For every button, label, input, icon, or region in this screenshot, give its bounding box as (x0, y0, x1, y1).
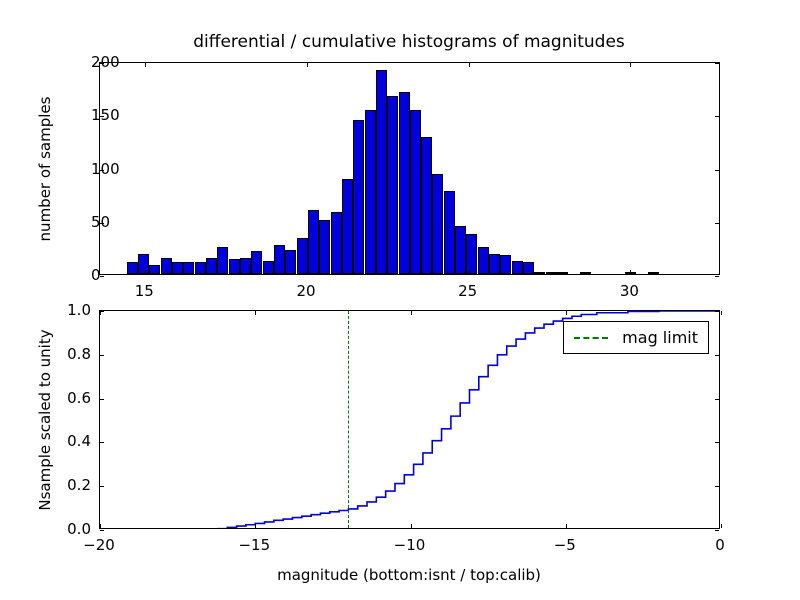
y-tick-mark (715, 311, 719, 312)
histogram-bar (399, 92, 410, 274)
x-tick-label: 15 (135, 282, 154, 300)
histogram-bar (489, 254, 500, 274)
x-tick-mark (145, 270, 146, 274)
y-tick-mark (100, 442, 104, 443)
bottom-axes: mag limit (99, 310, 720, 529)
bottom-axes-ylabel: Nsample scaled to unity (36, 329, 54, 510)
bottom-axes-xlabel: magnitude (bottom:isnt / top:calib) (277, 566, 541, 584)
y-tick-mark (100, 276, 104, 277)
x-tick-mark (100, 524, 101, 528)
histogram-bar (183, 262, 194, 274)
histogram-bar (500, 255, 511, 274)
x-tick-mark (411, 524, 412, 528)
histogram-bar (240, 258, 251, 274)
figure-title: differential / cumulative histograms of … (193, 32, 625, 52)
y-tick-mark (715, 399, 719, 400)
x-tick-label: −20 (83, 536, 115, 554)
x-tick-mark (566, 311, 567, 315)
y-tick-mark (100, 355, 104, 356)
y-tick-mark (715, 486, 719, 487)
x-tick-mark (721, 524, 722, 528)
histogram-bar (138, 254, 149, 274)
y-tick-label: 0.6 (67, 389, 91, 407)
top-axes (99, 62, 720, 275)
histogram-bar (444, 191, 455, 274)
histogram-bar (127, 262, 138, 274)
x-tick-mark (566, 524, 567, 528)
y-tick-mark (100, 399, 104, 400)
histogram-bar (195, 262, 206, 274)
histogram-bar (478, 247, 489, 274)
histogram-bar (161, 258, 172, 274)
y-tick-mark (715, 442, 719, 443)
x-tick-mark (307, 270, 308, 274)
histogram-bar (387, 96, 398, 274)
x-tick-mark (255, 524, 256, 528)
x-tick-mark (307, 63, 308, 67)
histogram-bar (263, 261, 274, 274)
x-tick-label: 25 (458, 282, 477, 300)
histogram-bar (206, 258, 217, 274)
histogram-bar (512, 261, 523, 274)
histogram-bar (432, 174, 443, 274)
y-tick-mark (715, 170, 719, 171)
histogram-bar (455, 226, 466, 274)
histogram-bar (410, 110, 421, 274)
histogram-plot-area (100, 63, 719, 274)
y-tick-mark (100, 530, 104, 531)
x-tick-label: 20 (296, 282, 315, 300)
x-tick-mark (100, 311, 101, 315)
x-tick-mark (145, 63, 146, 67)
histogram-bar (648, 272, 659, 274)
histogram-bar (546, 272, 557, 274)
histogram-bar (557, 272, 568, 274)
histogram-bar (285, 250, 296, 275)
x-tick-label: 0 (715, 536, 725, 554)
histogram-bar (297, 238, 308, 274)
y-tick-mark (715, 63, 719, 64)
y-tick-label: 0.4 (67, 432, 91, 450)
histogram-bar (365, 110, 376, 274)
histogram-bar (149, 265, 160, 274)
histogram-bar (251, 251, 262, 274)
x-tick-mark (721, 311, 722, 315)
x-tick-mark (469, 270, 470, 274)
histogram-bar (523, 262, 534, 274)
y-tick-mark (715, 355, 719, 356)
histogram-bar (331, 212, 342, 274)
x-tick-mark (255, 311, 256, 315)
y-tick-label: 1.0 (67, 301, 91, 319)
legend-label-mag-limit: mag limit (622, 328, 698, 347)
mag-limit-line (348, 311, 349, 528)
histogram-bar (466, 234, 477, 274)
y-tick-label: 0.2 (67, 476, 91, 494)
y-tick-mark (715, 223, 719, 224)
histogram-bar (217, 247, 228, 274)
y-tick-label: 0.8 (67, 345, 91, 363)
x-tick-label: −15 (238, 536, 270, 554)
mag-limit-swatch-icon (574, 337, 608, 339)
histogram-bar (580, 272, 591, 274)
y-tick-mark (715, 276, 719, 277)
y-tick-mark (715, 530, 719, 531)
histogram-bar (319, 220, 330, 274)
x-tick-label: 30 (620, 282, 639, 300)
histogram-bar (376, 70, 387, 274)
x-tick-mark (411, 311, 412, 315)
histogram-bar (421, 137, 432, 274)
histogram-bar (353, 120, 364, 274)
y-tick-mark (100, 486, 104, 487)
histogram-bar (342, 179, 353, 274)
y-tick-mark (715, 116, 719, 117)
histogram-bar (274, 245, 285, 274)
histogram-bar (308, 210, 319, 274)
x-tick-mark (469, 63, 470, 67)
top-axes-ylabel: number of samples (36, 96, 54, 241)
x-tick-label: −5 (554, 536, 576, 554)
histogram-bar (534, 272, 545, 274)
histogram-bar (229, 259, 240, 274)
figure-canvas: differential / cumulative histograms of … (0, 0, 800, 600)
x-tick-mark (630, 63, 631, 67)
legend: mag limit (563, 321, 709, 354)
histogram-bar (172, 262, 183, 274)
x-tick-label: −10 (394, 536, 426, 554)
x-tick-mark (630, 270, 631, 274)
